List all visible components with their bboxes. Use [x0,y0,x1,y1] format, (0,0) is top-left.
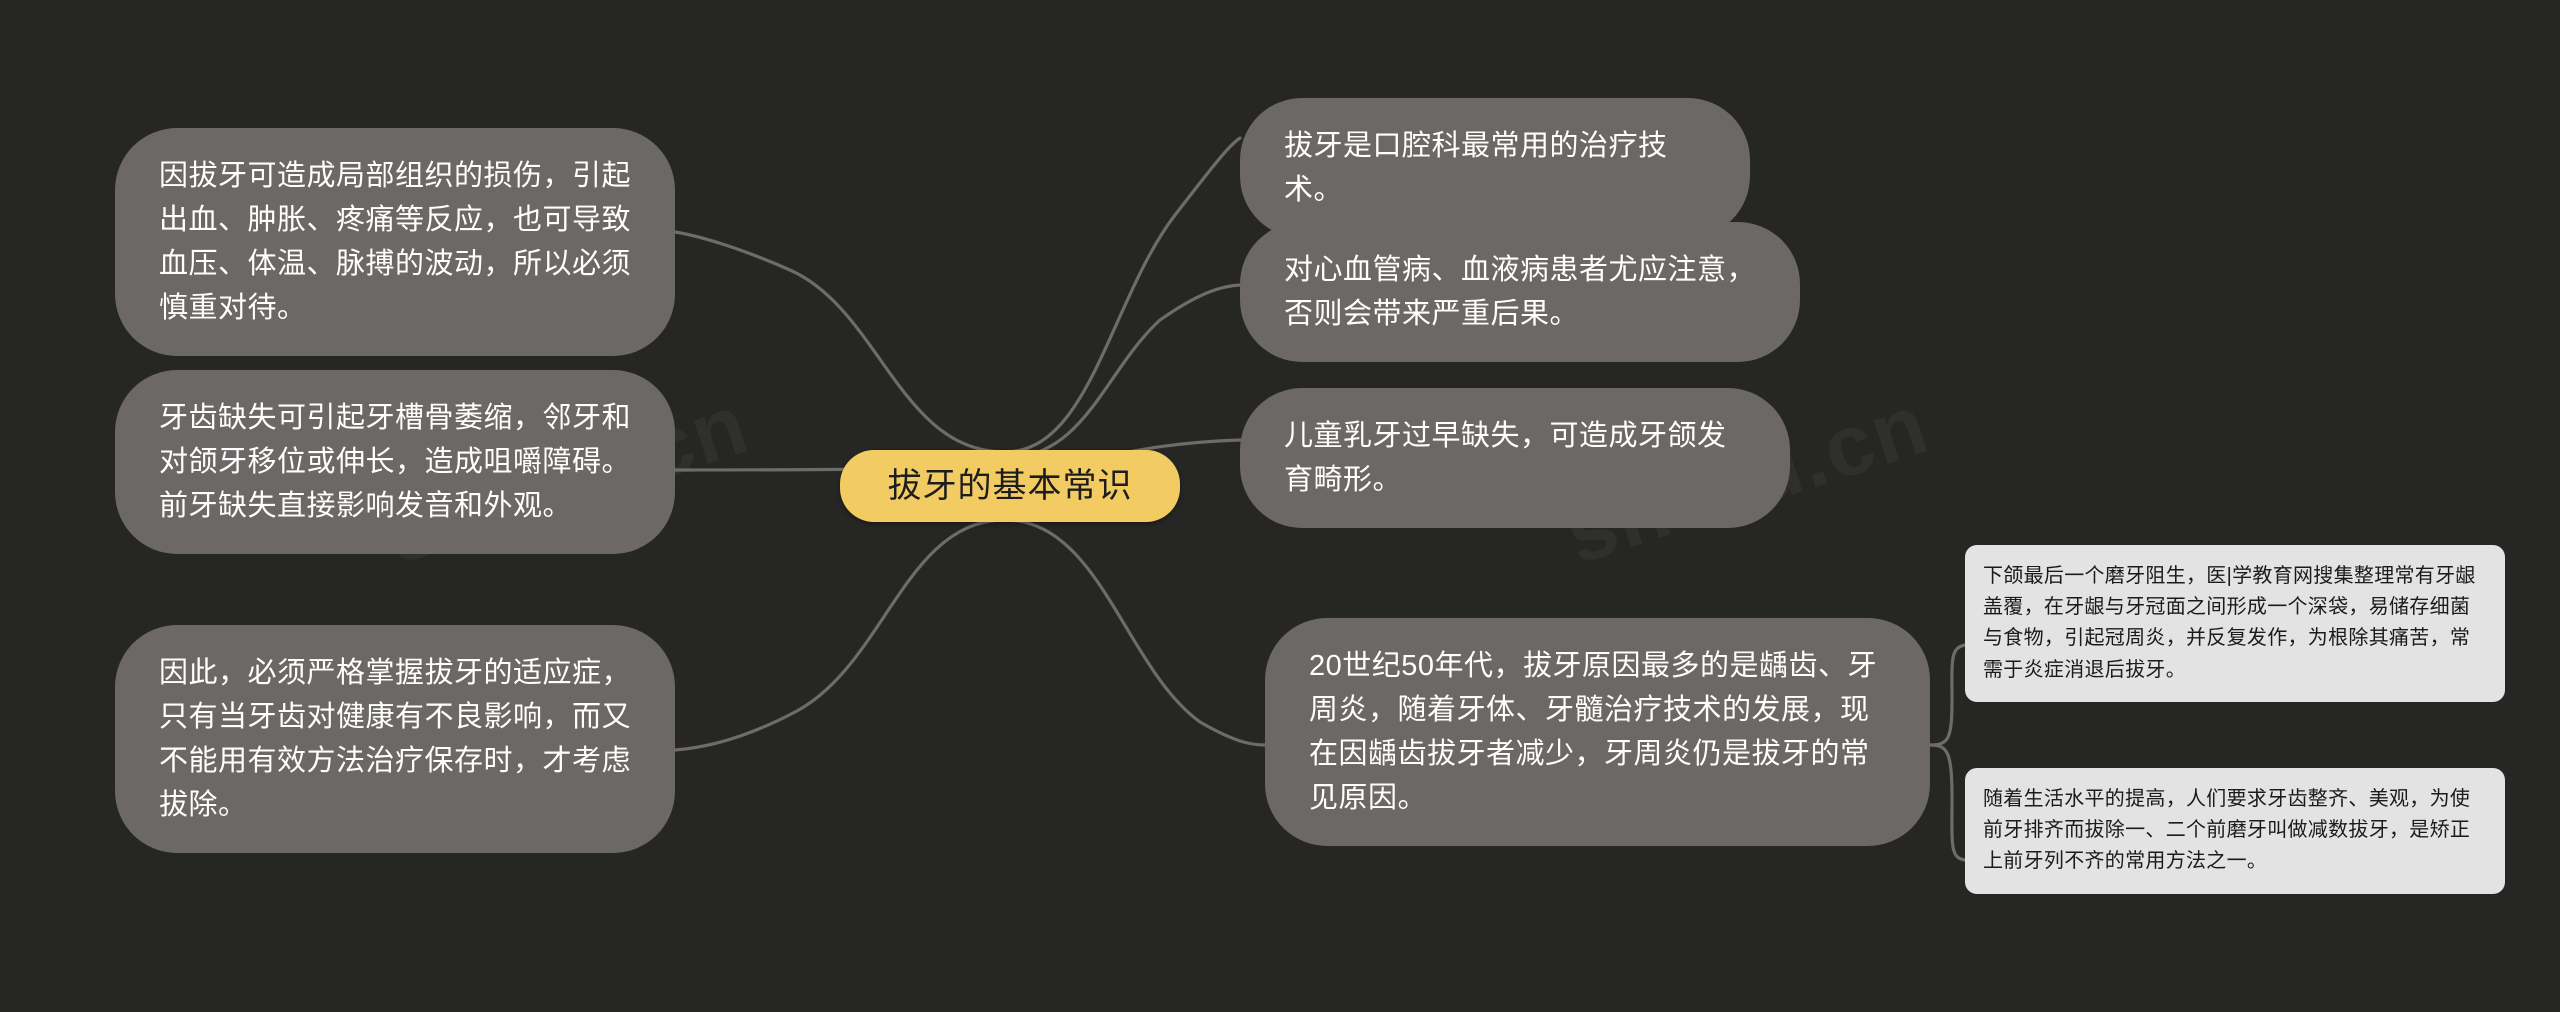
branch-node-text: 拔牙是口腔科最常用的治疗技术。 [1284,124,1706,212]
connector-right-1 [1005,138,1240,452]
mindmap-canvas: shutu.cn shutu.cn 因拔牙可造成局部组织的损伤，引起出血、肿胀、… [0,0,2560,1012]
branch-node-right-1[interactable]: 拔牙是口腔科最常用的治疗技术。 [1240,98,1750,238]
leaf-note-2[interactable]: 随着生活水平的提高，人们要求牙齿整齐、美观，为使前牙排齐而拔除一、二个前磨牙叫做… [1965,768,2505,894]
branch-node-text: 因拔牙可造成局部组织的损伤，引起出血、肿胀、疼痛等反应，也可导致血压、体温、脉搏… [159,154,631,330]
connector-note-2 [1930,745,1965,860]
branch-node-text: 儿童乳牙过早缺失，可造成牙颌发育畸形。 [1284,414,1746,502]
leaf-note-1[interactable]: 下颌最后一个磨牙阻生，医|学教育网搜集整理常有牙龈盖覆，在牙龈与牙冠面之间形成一… [1965,545,2505,702]
branch-node-text: 20世纪50年代，拔牙原因最多的是龋齿、牙周炎，随着牙体、牙髓治疗技术的发展，现… [1309,644,1886,820]
branch-node-left-2[interactable]: 牙齿缺失可引起牙槽骨萎缩，邻牙和对颌牙移位或伸长，造成咀嚼障碍。前牙缺失直接影响… [115,370,675,554]
connector-note-1 [1930,645,1965,745]
connector-right-4 [1005,520,1265,745]
connector-right-2 [1005,285,1240,458]
branch-node-text: 牙齿缺失可引起牙槽骨萎缩，邻牙和对颌牙移位或伸长，造成咀嚼障碍。前牙缺失直接影响… [159,396,631,528]
branch-node-left-3[interactable]: 因此，必须严格掌握拔牙的适应症，只有当牙齿对健康有不良影响，而又不能用有效方法治… [115,625,675,853]
root-node-label: 拔牙的基本常识 [888,464,1133,508]
branch-node-right-4[interactable]: 20世纪50年代，拔牙原因最多的是龋齿、牙周炎，随着牙体、牙髓治疗技术的发展，现… [1265,618,1930,846]
branch-node-right-2[interactable]: 对心血管病、血液病患者尤应注意，否则会带来严重后果。 [1240,222,1800,362]
branch-node-text: 对心血管病、血液病患者尤应注意，否则会带来严重后果。 [1284,248,1756,336]
branch-node-left-1[interactable]: 因拔牙可造成局部组织的损伤，引起出血、肿胀、疼痛等反应，也可导致血压、体温、脉搏… [115,128,675,356]
branch-node-text: 因此，必须严格掌握拔牙的适应症，只有当牙齿对健康有不良影响，而又不能用有效方法治… [159,651,631,827]
connector-left-3 [675,520,1005,750]
leaf-note-text: 随着生活水平的提高，人们要求牙齿整齐、美观，为使前牙排齐而拔除一、二个前磨牙叫做… [1983,784,2487,878]
root-node[interactable]: 拔牙的基本常识 [840,450,1180,522]
branch-node-right-3[interactable]: 儿童乳牙过早缺失，可造成牙颌发育畸形。 [1240,388,1790,528]
leaf-note-text: 下颌最后一个磨牙阻生，医|学教育网搜集整理常有牙龈盖覆，在牙龈与牙冠面之间形成一… [1983,561,2487,686]
